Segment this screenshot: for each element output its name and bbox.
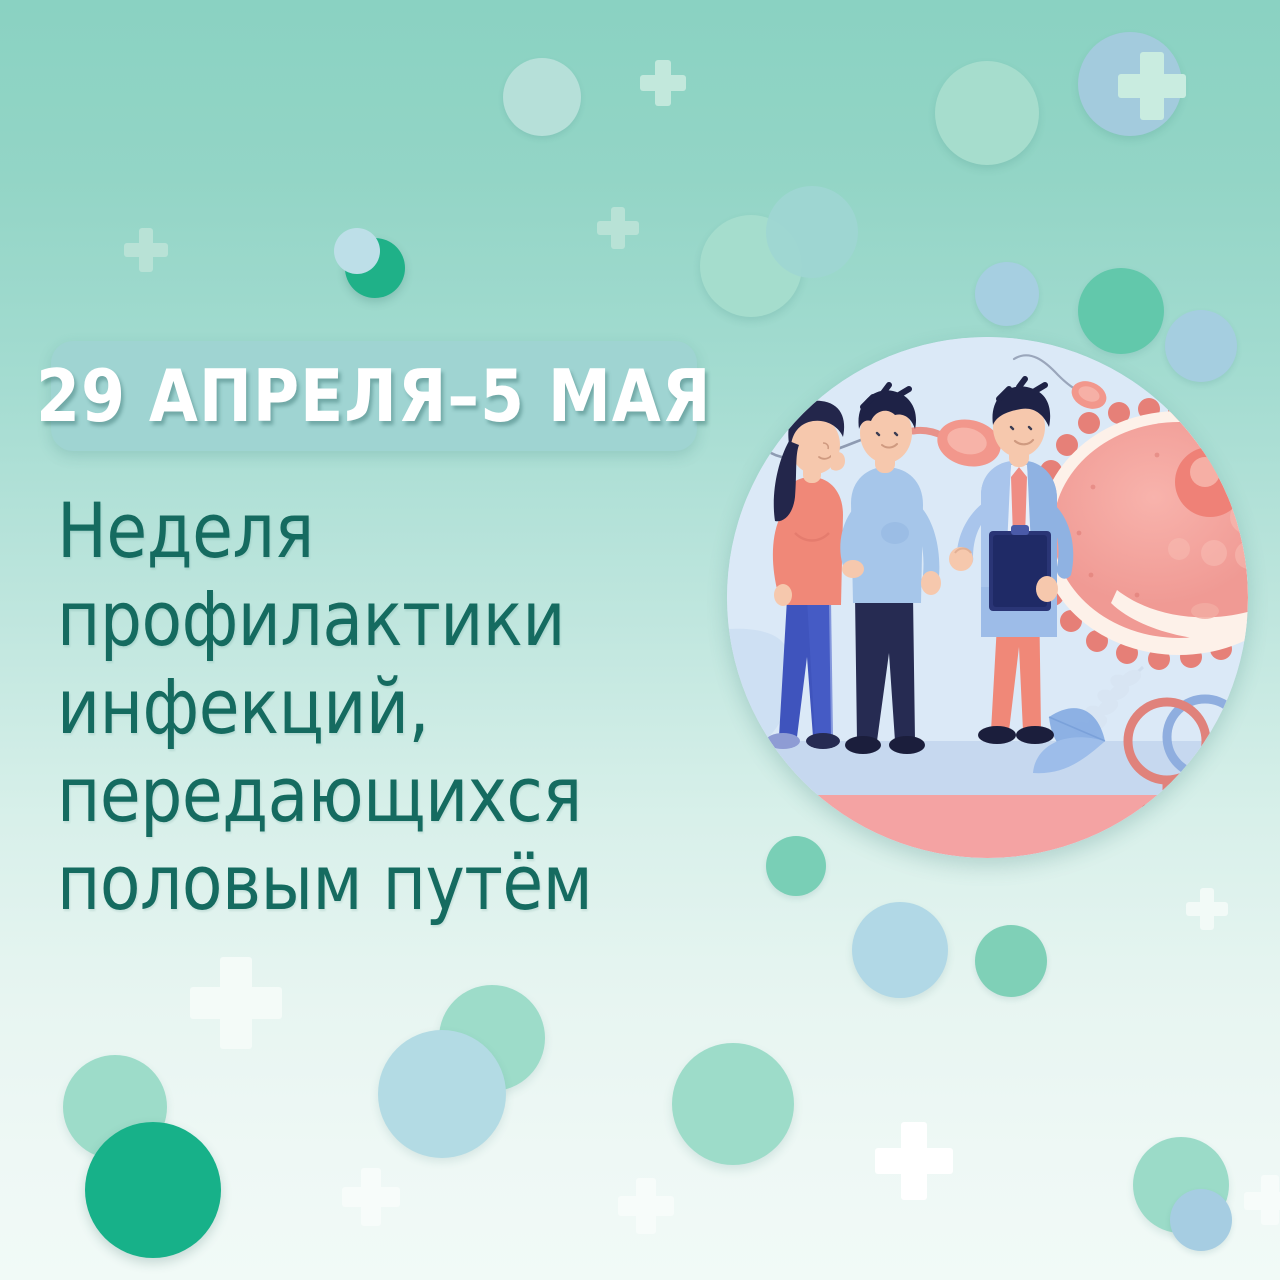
decor-circle	[766, 186, 858, 278]
illustration-circle	[727, 337, 1248, 858]
date-banner-text: 29 АПРЕЛЯ–5 МАЯ	[36, 360, 711, 432]
decor-circle-accent	[85, 1122, 221, 1258]
decor-circle	[334, 228, 380, 274]
date-banner: 29 АПРЕЛЯ–5 МАЯ	[51, 341, 697, 451]
medical-cross-icon	[190, 957, 282, 1049]
decor-circle	[1078, 268, 1164, 354]
decor-circle	[672, 1043, 794, 1165]
medical-cross-icon	[875, 1122, 953, 1200]
illustration-artwork	[727, 337, 1248, 858]
decor-circle	[378, 1030, 506, 1158]
decor-circle	[975, 262, 1039, 326]
medical-cross-icon	[640, 60, 686, 106]
decor-circle	[975, 925, 1047, 997]
decor-circle	[766, 836, 826, 896]
medical-cross-icon	[618, 1178, 674, 1234]
medical-cross-icon	[124, 228, 168, 272]
decor-circle	[852, 902, 948, 998]
medical-cross-icon	[597, 207, 639, 249]
decor-circle	[1170, 1189, 1232, 1251]
decor-circle	[1165, 310, 1237, 382]
page-title: Неделя профилактики инфекций, передающих…	[57, 487, 678, 927]
medical-cross-icon	[1244, 1175, 1280, 1225]
medical-cross-icon	[1186, 888, 1228, 930]
medical-cross-icon	[1118, 52, 1186, 120]
medical-cross-icon	[342, 1168, 400, 1226]
decor-circle	[935, 61, 1039, 165]
decor-circle	[503, 58, 581, 136]
poster-root: 29 АПРЕЛЯ–5 МАЯ Неделя профилактики инфе…	[0, 0, 1280, 1280]
